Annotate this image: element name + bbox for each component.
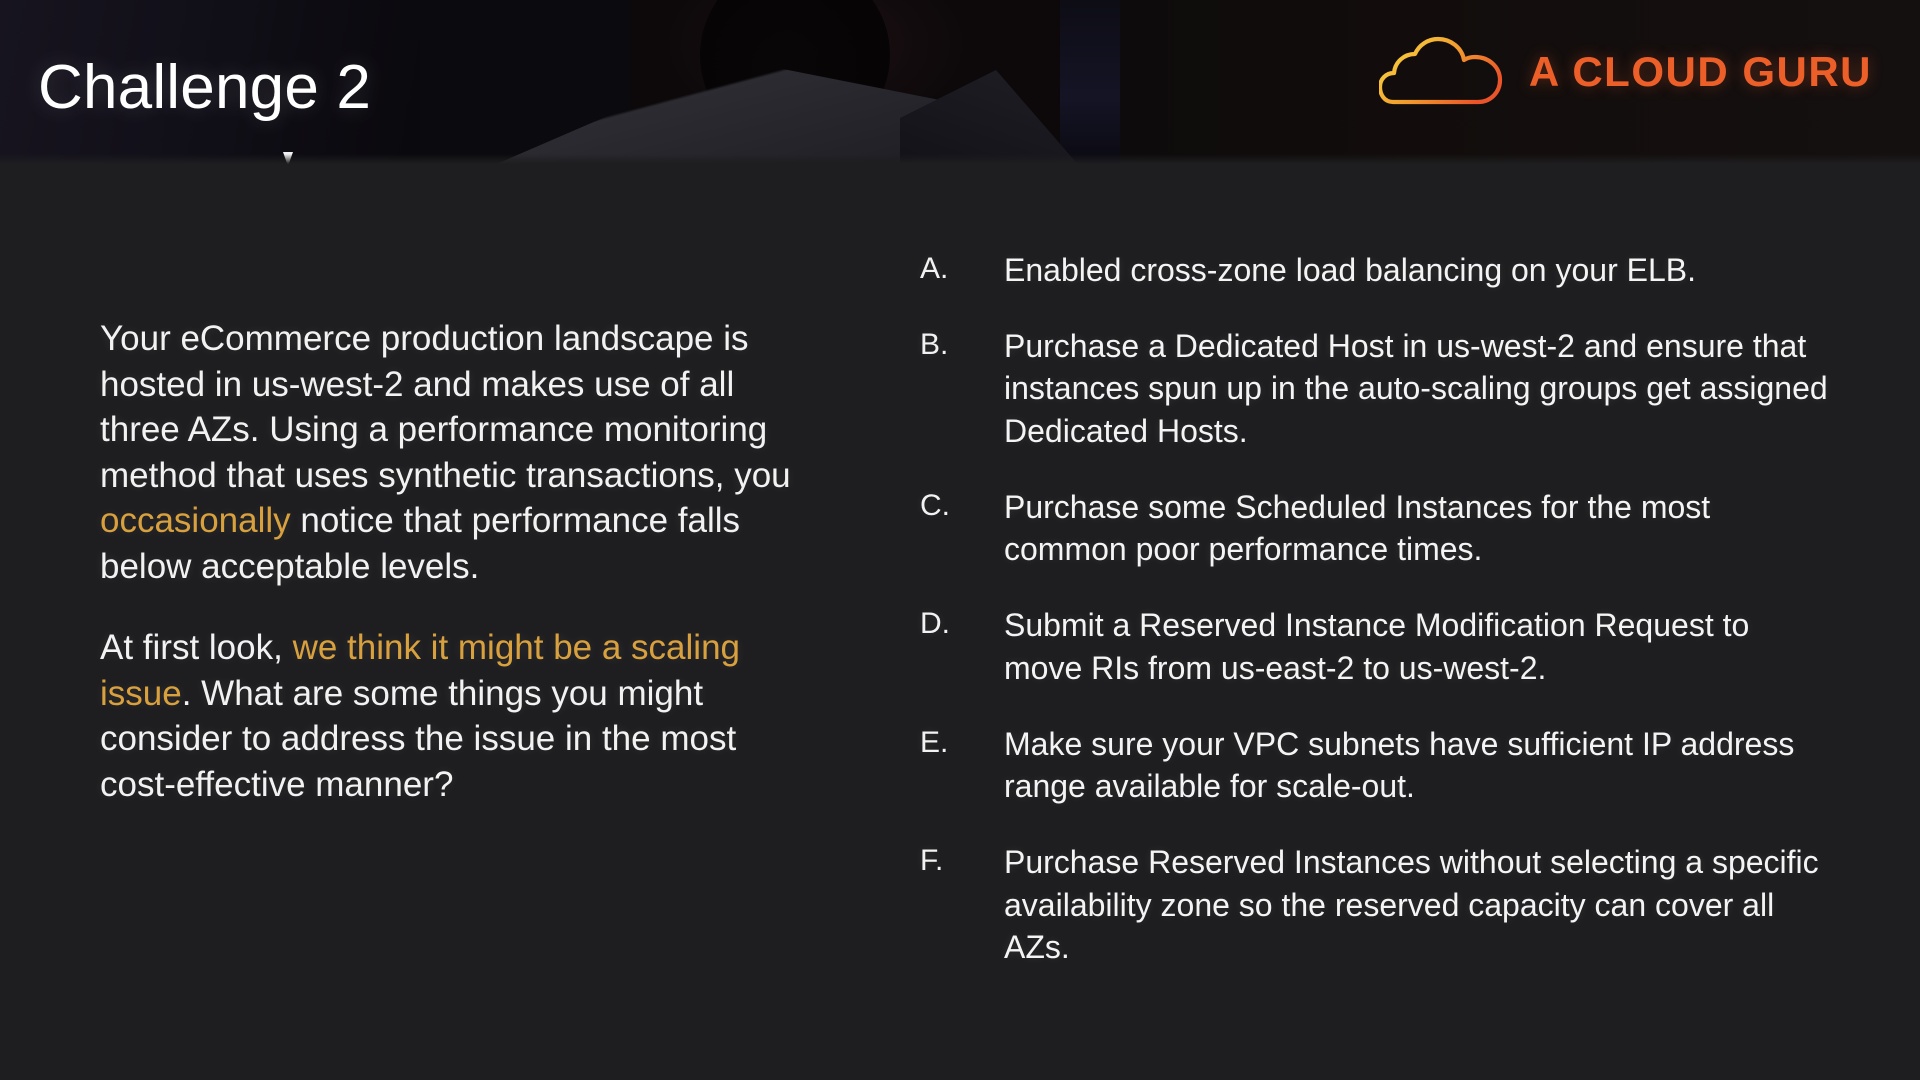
answer-option[interactable]: D.Submit a Reserved Instance Modificatio… [920, 604, 1830, 688]
question-paragraph-1: Your eCommerce production landscape is h… [100, 316, 800, 589]
brand-name: A CLOUD GURU [1529, 48, 1872, 96]
answer-option[interactable]: B.Purchase a Dedicated Host in us-west-2… [920, 325, 1830, 452]
answer-option-text: Submit a Reserved Instance Modification … [1004, 604, 1830, 688]
cloud-outline-icon [1379, 36, 1507, 108]
answer-option-text: Purchase Reserved Instances without sele… [1004, 841, 1830, 968]
body-text: At first look, [100, 628, 293, 667]
answer-option-letter: D. [920, 604, 1004, 644]
answer-option-letter: B. [920, 325, 1004, 365]
answer-option[interactable]: E.Make sure your VPC subnets have suffic… [920, 723, 1830, 807]
answer-option-text: Purchase some Scheduled Instances for th… [1004, 486, 1830, 570]
answer-option-letter: A. [920, 249, 1004, 289]
slide-body: Your eCommerce production landscape is h… [0, 164, 1920, 1080]
answer-option[interactable]: F.Purchase Reserved Instances without se… [920, 841, 1830, 968]
answer-options-list: A.Enabled cross-zone load balancing on y… [920, 249, 1830, 968]
brand-logo: A CLOUD GURU [1379, 36, 1872, 108]
answer-option-letter: C. [920, 486, 1004, 526]
answer-option-text: Enabled cross-zone load balancing on you… [1004, 249, 1830, 291]
answer-option-text: Make sure your VPC subnets have sufficie… [1004, 723, 1830, 807]
answer-option[interactable]: C.Purchase some Scheduled Instances for … [920, 486, 1830, 570]
highlighted-text: occasionally [100, 501, 291, 540]
body-text: Your eCommerce production landscape is h… [100, 319, 791, 495]
question-paragraph-2: At first look, we think it might be a sc… [100, 625, 800, 807]
question-column: Your eCommerce production landscape is h… [100, 316, 800, 807]
answer-option[interactable]: A.Enabled cross-zone load balancing on y… [920, 249, 1830, 291]
answer-option-letter: F. [920, 841, 1004, 881]
presentation-slide: Challenge 2 A CLOUD GURU Your eCommerce … [0, 0, 1920, 1080]
answer-option-letter: E. [920, 723, 1004, 763]
page-title: Challenge 2 [38, 52, 371, 123]
body-text: . What are some things you might conside… [100, 674, 736, 804]
header-bottom-fade [0, 154, 1920, 164]
answer-option-text: Purchase a Dedicated Host in us-west-2 a… [1004, 325, 1830, 452]
